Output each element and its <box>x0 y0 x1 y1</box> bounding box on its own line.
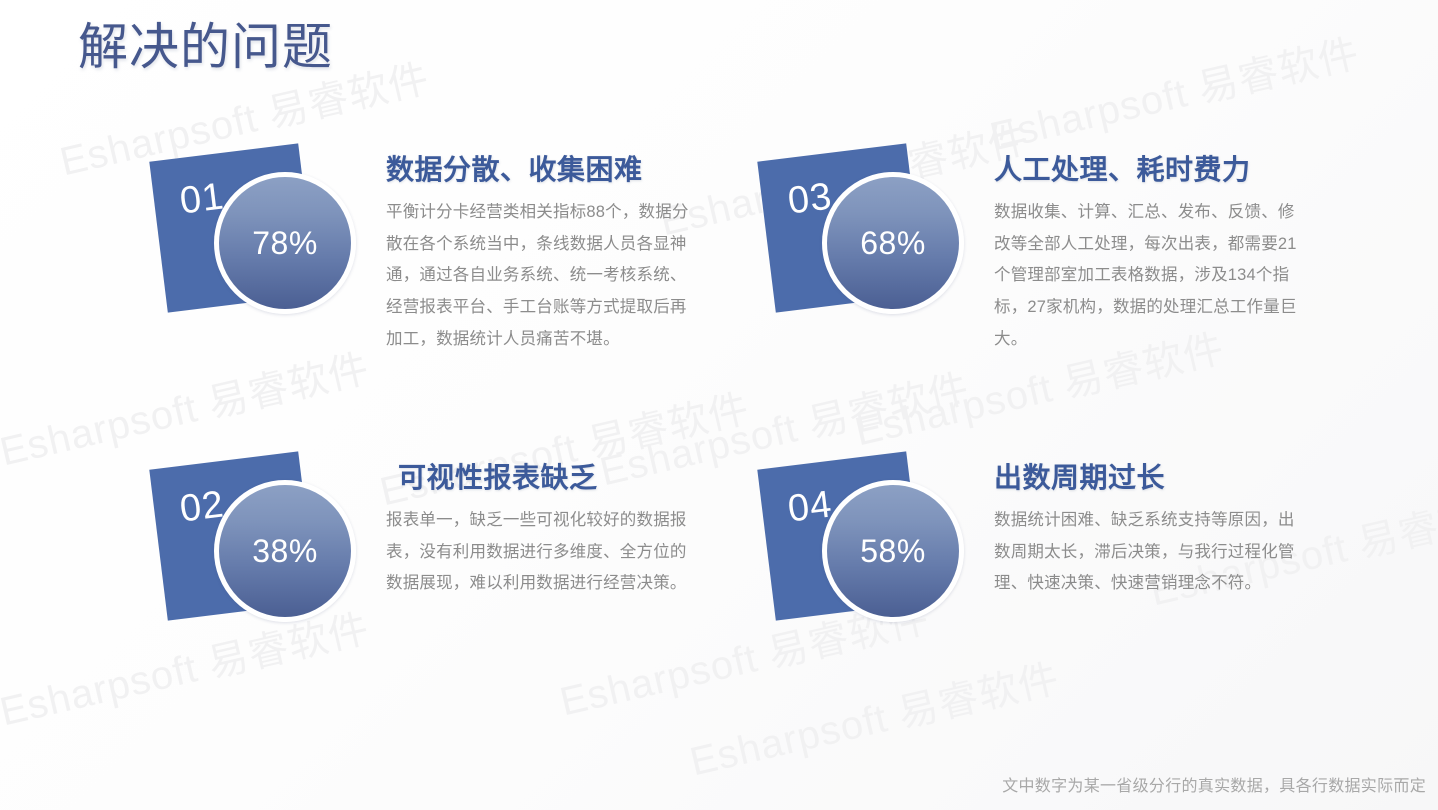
card-heading: 出数周期过长 <box>994 460 1304 495</box>
card-text: 数据收集、计算、汇总、发布、反馈、修改等全部人工处理，每次出表，都需要21个管理… <box>994 197 1304 355</box>
badge-01: 01 78% <box>152 140 382 330</box>
footnote: 文中数字为某一省级分行的真实数据，具各行数据实际而定 <box>1002 772 1426 796</box>
card-body: 出数周期过长 数据统计困难、缺乏系统支持等原因，出数周期太长，滞后决策，与我行过… <box>994 460 1304 600</box>
card-heading: 人工处理、耗时费力 <box>994 152 1304 187</box>
badge-percent: 78% <box>252 225 318 262</box>
badge-02: 02 38% <box>152 448 382 638</box>
badge-circle-shape: 58% <box>822 480 964 622</box>
badge-circle-shape: 68% <box>822 172 964 314</box>
slide-root: Esharpsoft 易睿软件Esharpsoft 易睿软件Esharpsoft… <box>0 0 1438 810</box>
page-title: 解决的问题 <box>78 16 333 79</box>
badge-circle-shape: 78% <box>214 172 356 314</box>
card-text: 报表单一，缺乏一些可视化较好的数据报表，没有利用数据进行多维度、全方位的数据展现… <box>386 505 696 600</box>
badge-number: 02 <box>178 483 227 531</box>
card-text: 数据统计困难、缺乏系统支持等原因，出数周期太长，滞后决策，与我行过程化管理、快速… <box>994 505 1304 600</box>
badge-number: 03 <box>786 175 835 223</box>
badge-number: 01 <box>178 175 227 223</box>
card-body: 人工处理、耗时费力 数据收集、计算、汇总、发布、反馈、修改等全部人工处理，每次出… <box>994 152 1304 355</box>
card-text: 平衡计分卡经营类相关指标88个，数据分散在各个系统当中，条线数据人员各显神通，通… <box>386 197 696 355</box>
badge-03: 03 68% <box>760 140 990 330</box>
badge-percent: 38% <box>252 533 318 570</box>
badge-04: 04 58% <box>760 448 990 638</box>
cards-container: 01 78% 数据分散、收集困难 平衡计分卡经营类相关指标88个，数据分散在各个… <box>0 0 1438 810</box>
card-body: 数据分散、收集困难 平衡计分卡经营类相关指标88个，数据分散在各个系统当中，条线… <box>386 152 696 355</box>
badge-percent: 58% <box>860 533 926 570</box>
badge-percent: 68% <box>860 225 926 262</box>
card-body: 可视性报表缺乏 报表单一，缺乏一些可视化较好的数据报表，没有利用数据进行多维度、… <box>386 460 696 600</box>
card-heading: 可视性报表缺乏 <box>386 460 696 495</box>
badge-number: 04 <box>786 483 835 531</box>
badge-circle-shape: 38% <box>214 480 356 622</box>
card-heading: 数据分散、收集困难 <box>386 152 696 187</box>
